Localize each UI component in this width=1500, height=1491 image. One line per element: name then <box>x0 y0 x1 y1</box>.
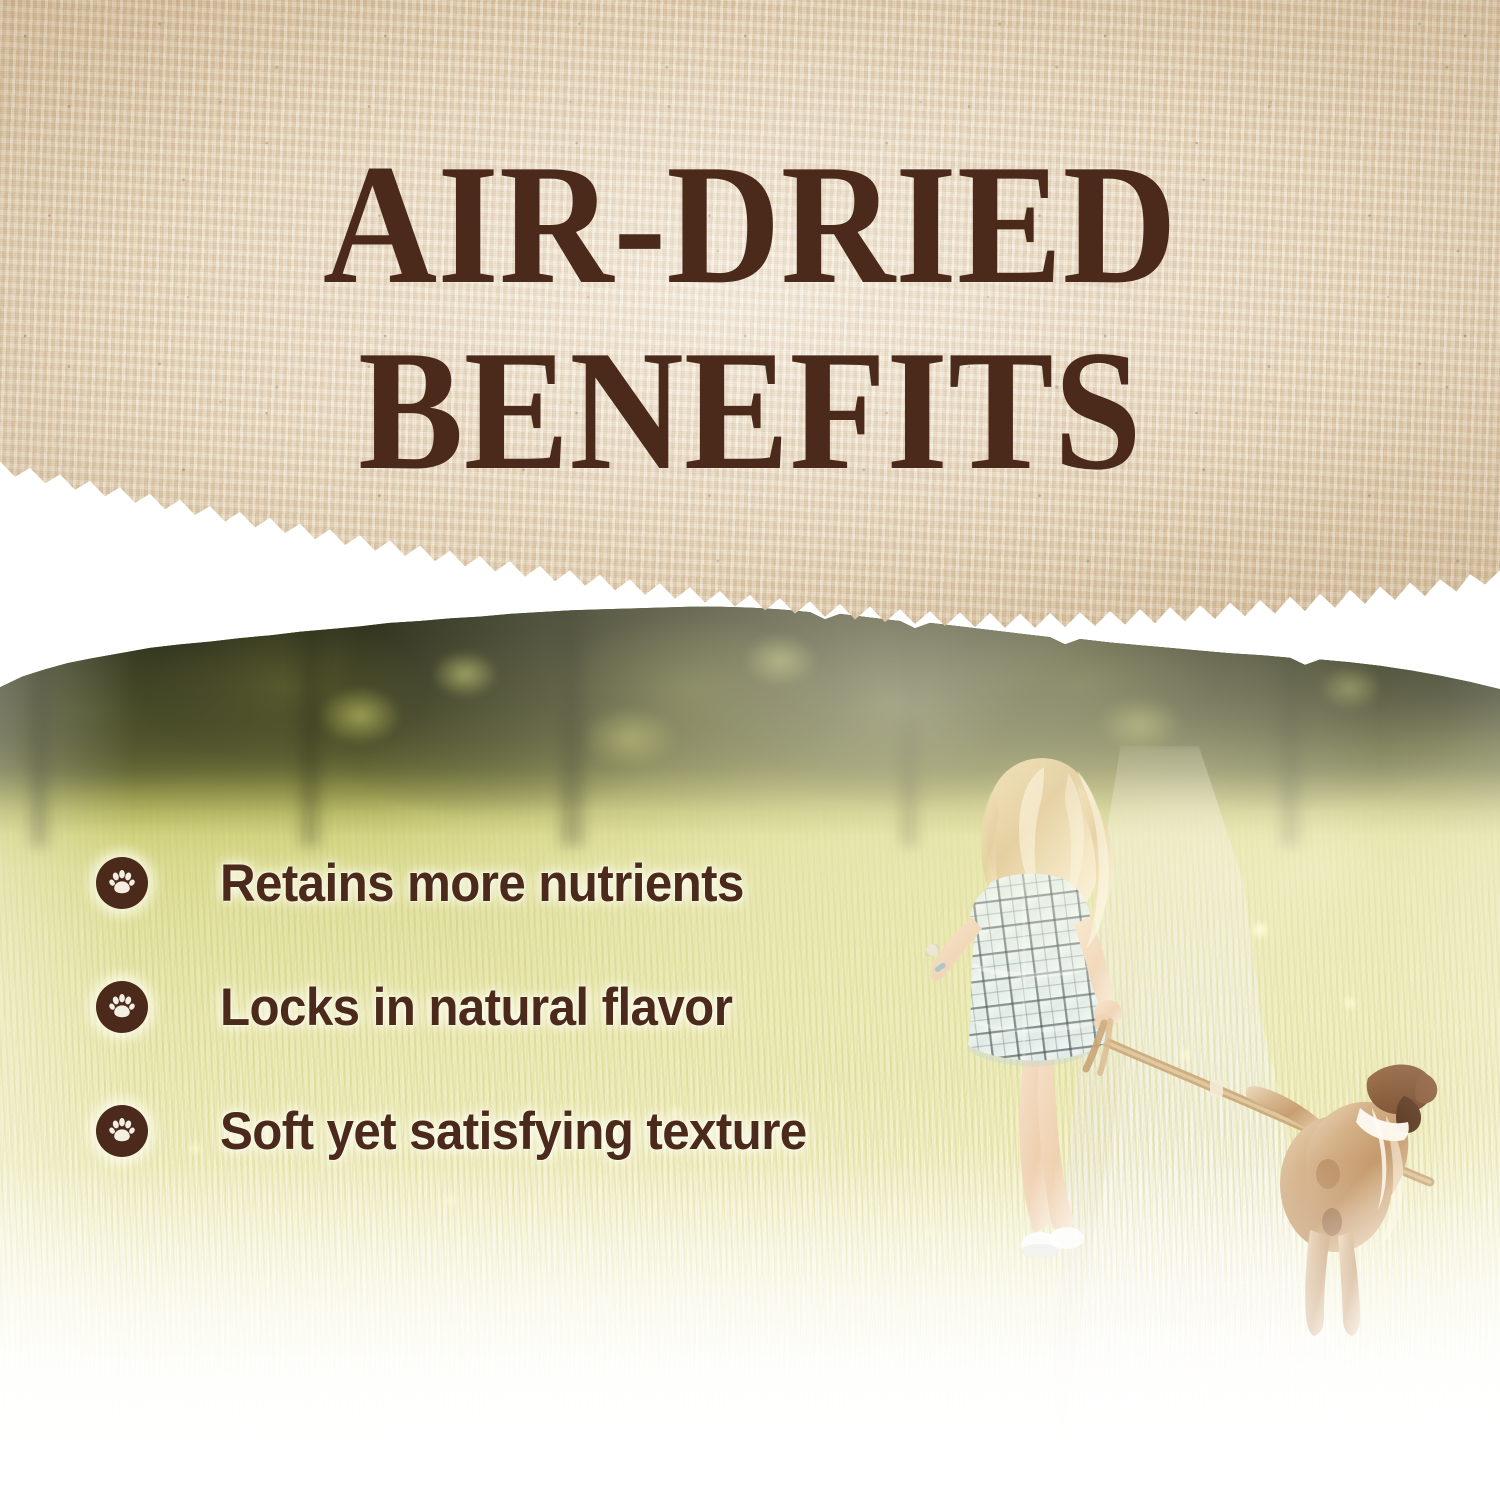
canopy-highlights <box>0 596 1500 826</box>
dog-figure <box>1236 1016 1456 1346</box>
paw-print-icon <box>96 857 148 909</box>
benefits-list: Retains more nutrients Locks in natural … <box>96 853 1056 1161</box>
headline-line-1: AIR-DRIED <box>60 145 1440 307</box>
air-dried-benefits-poster: AIR-DRIED BENEFITS Retains more nutrient… <box>0 0 1500 1491</box>
headline-line-2: BENEFITS <box>60 331 1440 493</box>
benefit-label: Locks in natural flavor <box>220 981 732 1034</box>
benefit-label: Soft yet satisfying texture <box>220 1105 807 1158</box>
page-title: AIR-DRIED BENEFITS <box>0 145 1500 492</box>
benefit-item-retains-nutrients: Retains more nutrients <box>96 853 1056 913</box>
paw-print-icon <box>96 1105 148 1157</box>
paw-print-icon <box>96 981 148 1033</box>
benefit-label: Retains more nutrients <box>220 857 744 910</box>
benefit-item-natural-flavor: Locks in natural flavor <box>96 977 1056 1037</box>
benefit-item-soft-texture: Soft yet satisfying texture <box>96 1101 1056 1161</box>
